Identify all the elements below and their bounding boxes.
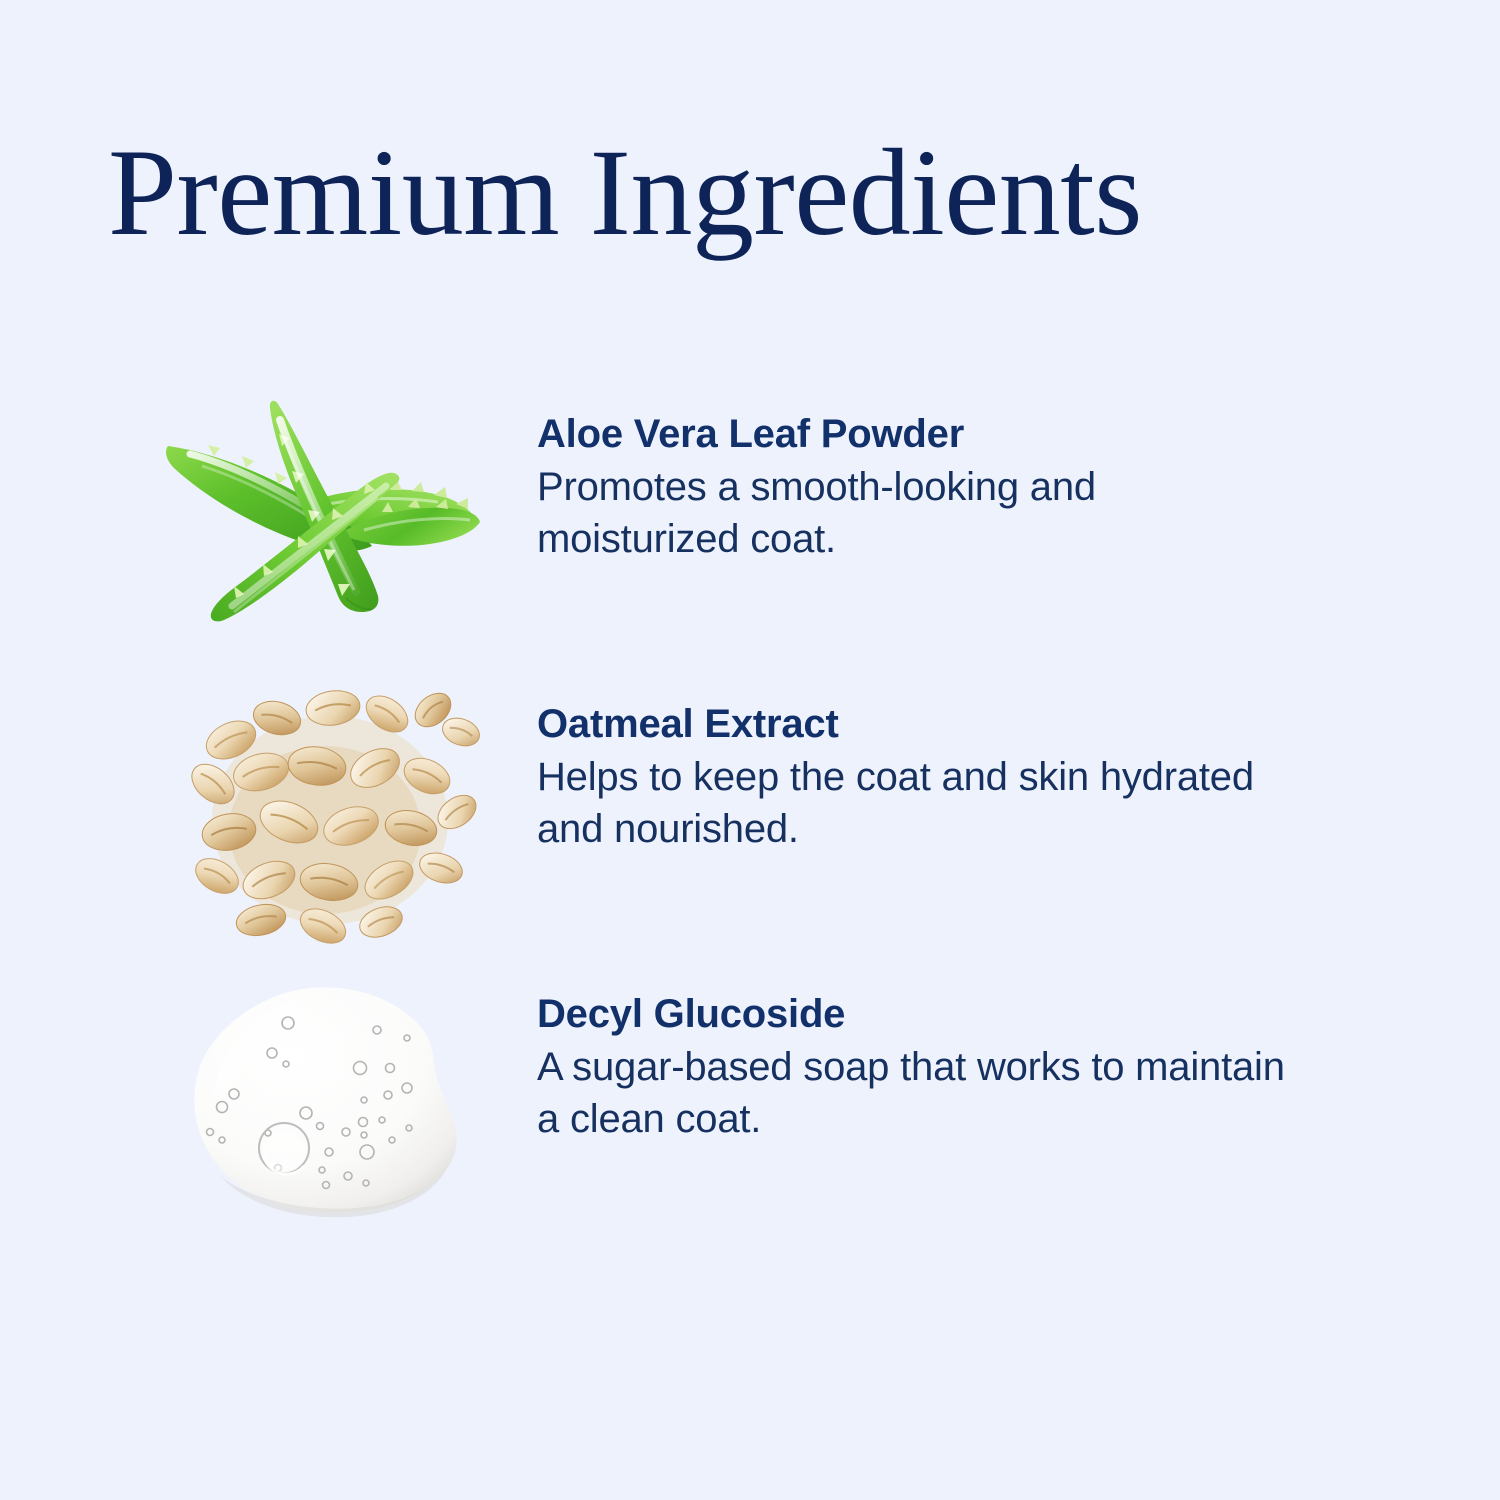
ingredient-row-aloe-vera: Aloe Vera Leaf Powder Promotes a smooth-… <box>0 390 1500 680</box>
page-title: Premium Ingredients <box>108 126 1408 260</box>
ingredient-name: Oatmeal Extract <box>537 702 1297 747</box>
oatmeal-copy: Oatmeal Extract Helps to keep the coat a… <box>537 702 1297 855</box>
gel-droplet-image <box>160 980 480 1220</box>
aloe-vera-copy: Aloe Vera Leaf Powder Promotes a smooth-… <box>537 412 1297 565</box>
ingredient-row-oatmeal: Oatmeal Extract Helps to keep the coat a… <box>0 680 1500 970</box>
decyl-glucoside-copy: Decyl Glucoside A sugar-based soap that … <box>537 992 1297 1145</box>
ingredient-description: Promotes a smooth-looking and moisturize… <box>537 461 1297 565</box>
gel-blob-shape <box>194 987 456 1212</box>
ingredients-infographic: Premium Ingredients <box>0 0 1500 1500</box>
ingredient-row-decyl-glucoside: Decyl Glucoside A sugar-based soap that … <box>0 970 1500 1260</box>
oatmeal-image <box>165 680 495 950</box>
aloe-vera-image <box>150 390 480 640</box>
ingredient-description: Helps to keep the coat and skin hydrated… <box>537 751 1297 855</box>
ingredient-name: Decyl Glucoside <box>537 992 1297 1037</box>
ingredient-description: A sugar-based soap that works to maintai… <box>537 1041 1297 1145</box>
ingredient-name: Aloe Vera Leaf Powder <box>537 412 1297 457</box>
